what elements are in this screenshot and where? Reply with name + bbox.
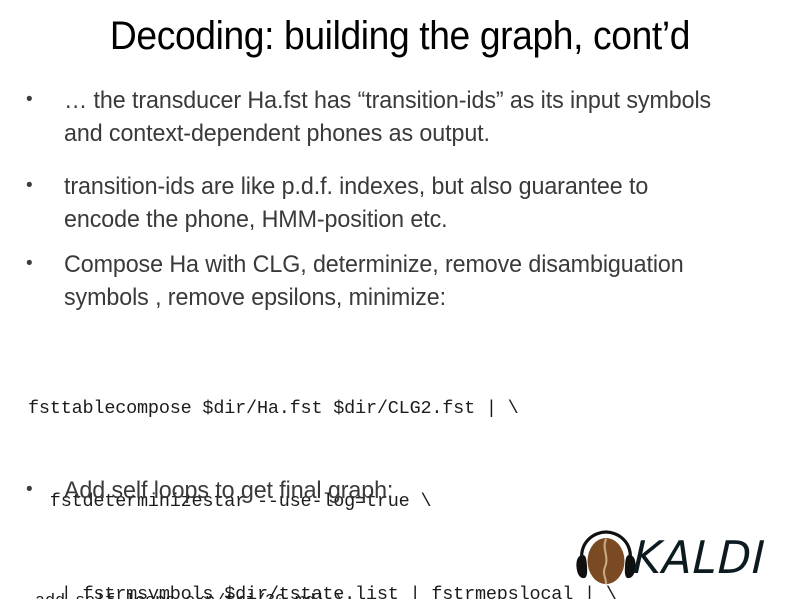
code-block-self-loops: add-self-loops exp/tri/30.mdl \ < $dir/H… [35,524,395,599]
code-line: fsttablecompose $dir/Ha.fst $dir/CLG2.fs… [28,393,617,424]
bullet-text-4: Add self loops to get final graph: [64,474,727,507]
bullet-text-2: transition-ids are like p.d.f. indexes, … [64,170,727,236]
bullet-marker-icon: • [22,84,64,116]
page-title: Decoding: building the graph, cont’d [28,12,772,60]
bullet-marker-icon: • [22,170,64,202]
slide-canvas: Decoding: building the graph, cont’d • …… [0,0,800,599]
bullet-item-2: • transition-ids are like p.d.f. indexes… [22,170,762,236]
bullet-item-1: • … the transducer Ha.fst has “transitio… [22,84,762,150]
code-line: add-self-loops exp/tri/30.mdl \ [35,586,395,599]
bullet-item-4: • Add self loops to get final graph: [22,474,762,507]
bullet-text-3: Compose Ha with CLG, determinize, remove… [64,248,727,314]
bullet-marker-icon: • [22,474,64,506]
bullet-item-3: • Compose Ha with CLG, determinize, remo… [22,248,762,314]
kaldi-wordmark: KALDI [632,534,766,582]
kaldi-logo: KALDI [575,527,790,589]
bullet-text-1: … the transducer Ha.fst has “transition-… [64,84,727,150]
coffee-bean-headphones-icon [575,529,637,587]
bullet-marker-icon: • [22,248,64,280]
